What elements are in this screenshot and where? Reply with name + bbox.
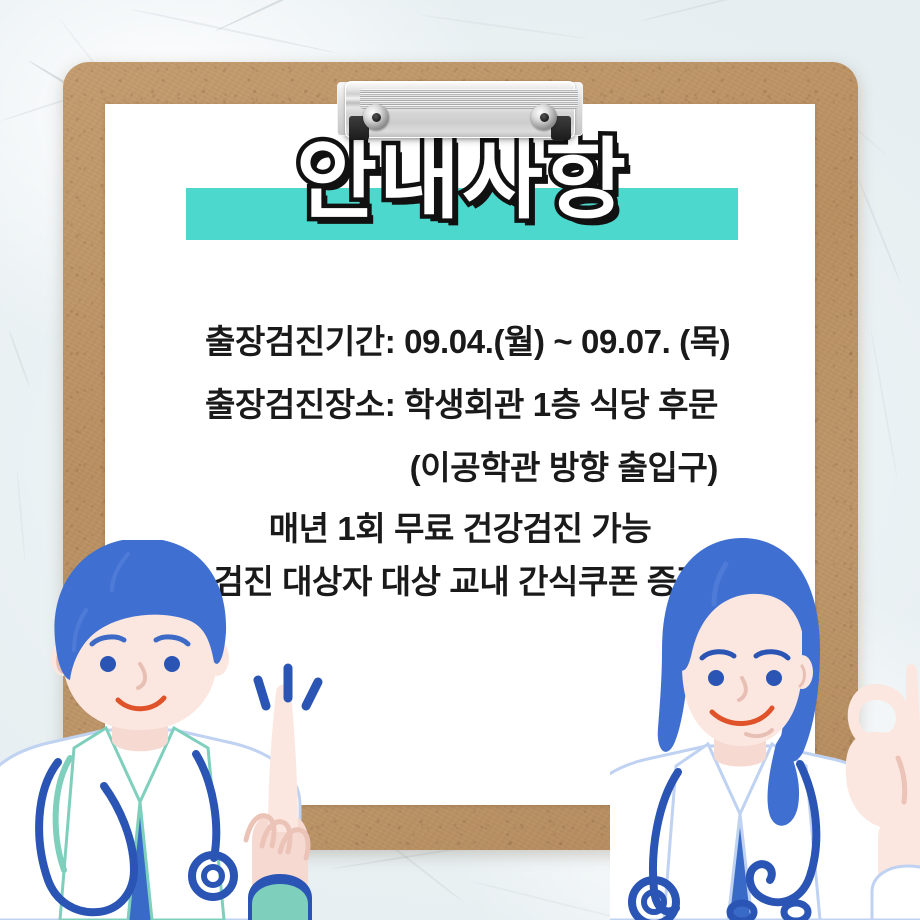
notice-line-entrance: (이공학관 방향 출입구) — [160, 451, 718, 484]
clip-rivet-left — [363, 104, 389, 130]
notice-line-free: 매년 1회 무료 건강검진 가능 — [160, 512, 760, 545]
notice-line-coupon: 검진 대상자 대상 교내 간식쿠폰 증정 — [160, 565, 760, 598]
clipboard-metal-clip — [337, 78, 583, 142]
poster-canvas: 안내사항 출장검진기간: 09.04.(월) ~ 09.07. (목) 출장검진… — [0, 0, 920, 920]
title-banner: 안내사항 — [186, 188, 738, 240]
clip-rivet-right — [531, 104, 557, 130]
notice-line-period: 출장검진기간: 09.04.(월) ~ 09.07. (목) — [205, 325, 730, 358]
page-title: 안내사항 — [186, 136, 738, 224]
notice-line-location: 출장검진장소: 학생회관 1층 식당 후문 — [205, 388, 718, 421]
